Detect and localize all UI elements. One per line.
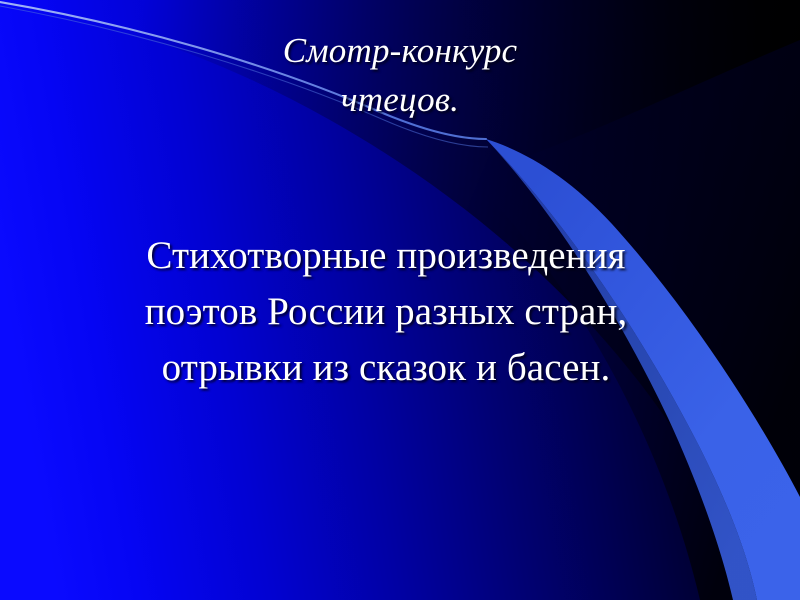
body-line-2: поэтов России разных стран,	[36, 284, 736, 340]
slide-title: Смотр-конкурс чтецов.	[0, 26, 800, 124]
presentation-slide: Смотр-конкурс чтецов. Стихотворные произ…	[0, 0, 800, 600]
body-line-1: Стихотворные произведения	[36, 228, 736, 284]
body-line-3: отрывки из сказок и басен.	[36, 340, 736, 396]
slide-body: Стихотворные произведения поэтов России …	[36, 228, 736, 396]
title-line-2: чтецов.	[0, 75, 800, 124]
slide-content: Смотр-конкурс чтецов. Стихотворные произ…	[0, 0, 800, 600]
title-line-1: Смотр-конкурс	[0, 26, 800, 75]
